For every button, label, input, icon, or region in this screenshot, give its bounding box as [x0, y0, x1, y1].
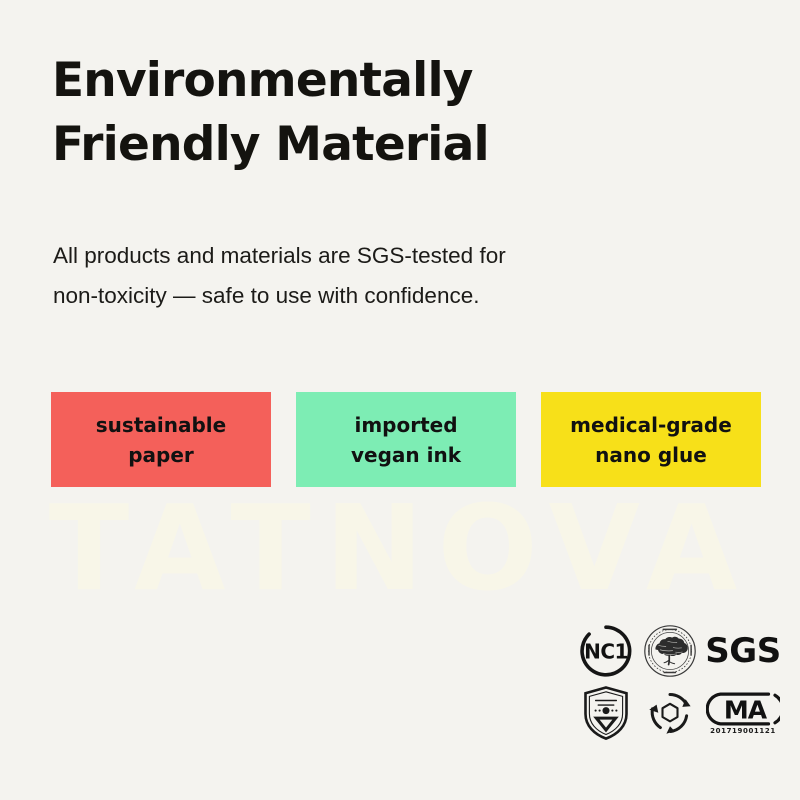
- sgs-icon: SGS: [703, 622, 783, 680]
- page-title-line-1: Environmentally: [52, 53, 473, 108]
- nc1-icon: NC1: [575, 622, 637, 680]
- ma-icon: MA 201719001121: [703, 682, 783, 744]
- certification-badge-grid: NC1: [575, 620, 783, 744]
- ma-certificate-number: 201719001121: [710, 728, 776, 735]
- material-tag-line-2: nano glue: [595, 440, 707, 470]
- material-tag-list: sustainable paper imported vegan ink med…: [51, 392, 761, 487]
- certification-badge-row-1: NC1: [575, 620, 783, 682]
- svg-text:MA: MA: [724, 695, 768, 724]
- brand-watermark: TATNOVA: [0, 488, 800, 608]
- shield-icon: [575, 682, 637, 744]
- material-tag-line-1: sustainable: [96, 410, 226, 440]
- material-tag-sustainable-paper: sustainable paper: [51, 392, 271, 487]
- material-tag-line-1: medical-grade: [570, 410, 732, 440]
- recycling-icon: [637, 682, 703, 744]
- svg-text:NC1: NC1: [584, 640, 628, 664]
- material-tag-line-1: imported: [354, 410, 457, 440]
- page-title: Environmentally Friendly Material: [52, 49, 652, 177]
- poster-canvas: TATNOVA Environmentally Friendly Materia…: [0, 0, 800, 800]
- certification-badge-row-2: MA 201719001121: [575, 682, 783, 744]
- material-tag-line-2: vegan ink: [351, 440, 461, 470]
- tree-seal-icon: [637, 622, 703, 680]
- sgs-label: SGS: [705, 634, 780, 668]
- page-title-line-2: Friendly Material: [52, 113, 652, 177]
- page-subtitle: All products and materials are SGS-teste…: [53, 236, 673, 316]
- material-tag-imported-vegan-ink: imported vegan ink: [296, 392, 516, 487]
- page-subtitle-line-2: non-toxicity — safe to use with confiden…: [53, 276, 673, 316]
- page-subtitle-line-1: All products and materials are SGS-teste…: [53, 243, 506, 268]
- material-tag-medical-grade-nano-glue: medical-grade nano glue: [541, 392, 761, 487]
- material-tag-line-2: paper: [128, 440, 194, 470]
